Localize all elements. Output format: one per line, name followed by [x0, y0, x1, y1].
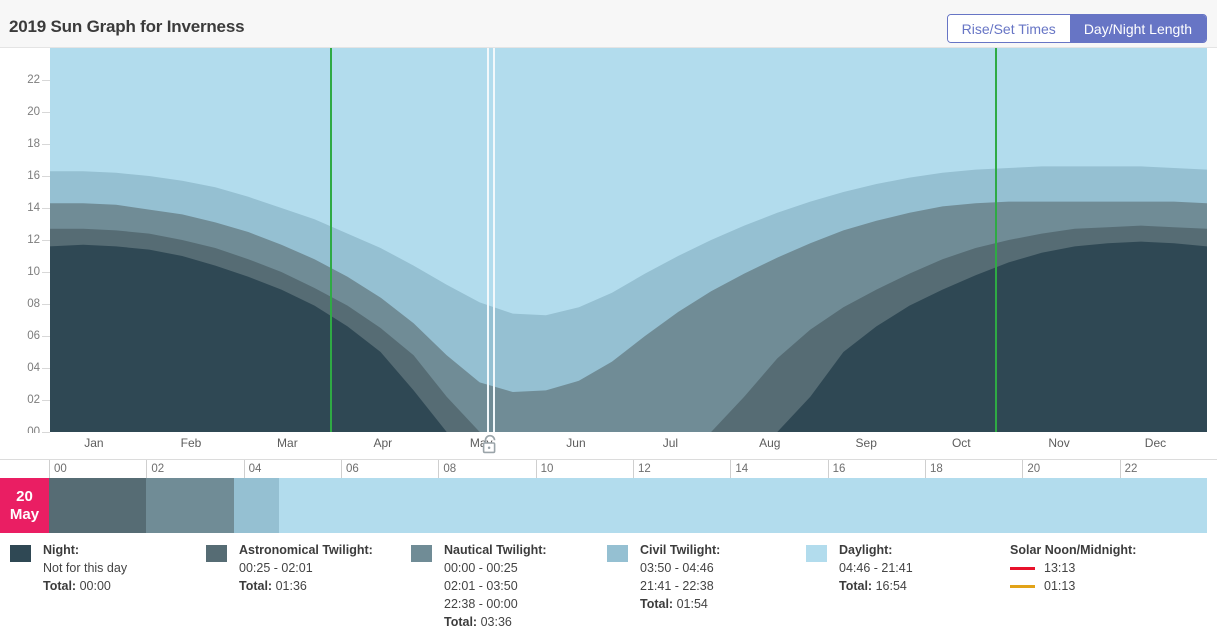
tab-day-night-length[interactable]: Day/Night Length: [1070, 15, 1206, 42]
solar-noon-row: 13:13: [1010, 559, 1136, 577]
month-label: Jun: [566, 436, 585, 450]
cursor-line-stroke: [493, 48, 495, 432]
legend-item: Astronomical Twilight:00:25 - 02:01Total…: [206, 541, 373, 595]
legend-item-title: Nautical Twilight:: [444, 541, 547, 559]
autumn-marker: [995, 48, 997, 432]
y-axis-label: 16: [27, 170, 40, 182]
y-axis-tick: [42, 144, 50, 145]
view-toggle-group[interactable]: Rise/Set Times Day/Night Length: [947, 14, 1207, 43]
legend-item-range: 03:50 - 04:46: [640, 559, 720, 577]
day-segment[interactable]: [234, 478, 279, 533]
legend-item-title: Night:: [43, 541, 127, 559]
stacked-area-bands: [50, 48, 1207, 432]
legend-item-title: Civil Twilight:: [640, 541, 720, 559]
hour-tick-label: 16: [828, 460, 846, 480]
y-axis-tick: [42, 368, 50, 369]
hour-tick-label: 02: [146, 460, 164, 480]
legend-item: Nautical Twilight:00:00 - 00:2502:01 - 0…: [411, 541, 547, 631]
legend: Night:Not for this dayTotal: 00:00Astron…: [0, 536, 1217, 642]
legend-item-range: 22:38 - 00:00: [444, 595, 547, 613]
month-label: Jul: [663, 436, 678, 450]
day-segment[interactable]: [146, 478, 234, 533]
selected-day-number: 20: [16, 488, 33, 506]
solar-midnight-line-icon: [1010, 585, 1035, 588]
hour-tick-label: 08: [438, 460, 456, 480]
legend-item-range: 04:46 - 21:41: [839, 559, 913, 577]
page-title: 2019 Sun Graph for Inverness: [9, 17, 244, 37]
hour-tick-label: 20: [1022, 460, 1040, 480]
legend-item-range: 00:25 - 02:01: [239, 559, 373, 577]
month-label: Apr: [373, 436, 392, 450]
hour-tick-label: 22: [1120, 460, 1138, 480]
y-axis-tick: [42, 240, 50, 241]
legend-item-total: Total: 01:54: [640, 595, 720, 613]
y-axis-tick: [42, 272, 50, 273]
hour-tick-label: 00: [49, 460, 67, 480]
selected-day-month: May: [10, 506, 39, 524]
y-axis-label: 20: [27, 106, 40, 118]
y-axis-label: 10: [27, 266, 40, 278]
y-axis-label: 04: [27, 362, 40, 374]
day-segment[interactable]: [49, 478, 69, 533]
sun-graph-chart[interactable]: 000204060810121416182022: [0, 48, 1217, 433]
month-label: Feb: [181, 436, 202, 450]
legend-item-total: Total: 16:54: [839, 577, 913, 595]
y-axis-tick: [42, 336, 50, 337]
legend-swatch: [607, 545, 628, 562]
y-axis-tick: [42, 176, 50, 177]
solar-noon-line-icon: [1010, 567, 1035, 570]
x-axis: JanFebMarAprMayJunJulAugSepOctNovDec 000…: [0, 433, 1217, 478]
tab-rise-set-times[interactable]: Rise/Set Times: [948, 15, 1070, 42]
unlock-icon[interactable]: [480, 434, 500, 456]
legend-item-range: 02:01 - 03:50: [444, 577, 547, 595]
legend-item: Night:Not for this dayTotal: 00:00: [10, 541, 127, 595]
hour-tick-row: 000204060810121416182022: [0, 459, 1217, 479]
y-axis-label: 14: [27, 202, 40, 214]
day-segment[interactable]: [279, 478, 1207, 533]
hour-tick-label: 14: [730, 460, 748, 480]
legend-item: Civil Twilight:03:50 - 04:4621:41 - 22:3…: [607, 541, 720, 613]
solar-midnight-row: 01:13: [1010, 577, 1136, 595]
month-label: Sep: [856, 436, 877, 450]
selected-day-badge: 20 May: [0, 478, 49, 533]
hour-tick-label: 04: [244, 460, 262, 480]
y-axis-tick: [42, 304, 50, 305]
sun-graph-page: 2019 Sun Graph for Inverness Rise/Set Ti…: [0, 0, 1217, 642]
legend-item-range: 00:00 - 00:25: [444, 559, 547, 577]
month-label: Aug: [759, 436, 780, 450]
month-label: Oct: [952, 436, 971, 450]
legend-item: Daylight:04:46 - 21:41Total: 16:54: [806, 541, 913, 595]
month-label: Dec: [1145, 436, 1166, 450]
legend-swatch: [411, 545, 432, 562]
solar-title: Solar Noon/Midnight:: [1010, 541, 1136, 559]
legend-item-total: Total: 01:36: [239, 577, 373, 595]
solar-noon-midnight-block: Solar Noon/Midnight: 13:13 01:13: [1010, 541, 1136, 595]
spring-marker: [330, 48, 332, 432]
hour-tick-label: 12: [633, 460, 651, 480]
y-axis-label: 02: [27, 394, 40, 406]
month-label: Mar: [277, 436, 298, 450]
y-axis-tick: [42, 112, 50, 113]
legend-item-title: Astronomical Twilight:: [239, 541, 373, 559]
solar-midnight-value: 01:13: [1044, 577, 1075, 595]
y-axis-label: 18: [27, 138, 40, 150]
hour-tick-label: 06: [341, 460, 359, 480]
legend-swatch: [206, 545, 227, 562]
y-axis-label: 08: [27, 298, 40, 310]
day-segment[interactable]: [69, 478, 146, 533]
hour-tick-label: 10: [536, 460, 554, 480]
legend-item-range: Not for this day: [43, 559, 127, 577]
selected-day-bar[interactable]: 20 May: [0, 478, 1217, 533]
legend-item-range: 21:41 - 22:38: [640, 577, 720, 595]
y-axis-tick: [42, 208, 50, 209]
y-axis-tick: [42, 80, 50, 81]
legend-swatch: [10, 545, 31, 562]
y-axis: 000204060810121416182022: [0, 48, 50, 432]
cursor-line-stroke: [487, 48, 489, 432]
hour-tick-label: 18: [925, 460, 943, 480]
legend-swatch: [806, 545, 827, 562]
y-axis-label: 22: [27, 74, 40, 86]
y-axis-label: 12: [27, 234, 40, 246]
month-label: Nov: [1048, 436, 1069, 450]
page-header: 2019 Sun Graph for Inverness Rise/Set Ti…: [0, 0, 1217, 48]
y-axis-tick: [42, 400, 50, 401]
legend-item-total: Total: 03:36: [444, 613, 547, 631]
day-segments[interactable]: [49, 478, 1207, 533]
legend-item-title: Daylight:: [839, 541, 913, 559]
y-axis-label: 06: [27, 330, 40, 342]
month-label: Jan: [84, 436, 103, 450]
plot-area[interactable]: [50, 48, 1207, 432]
solar-noon-value: 13:13: [1044, 559, 1075, 577]
legend-item-total: Total: 00:00: [43, 577, 127, 595]
